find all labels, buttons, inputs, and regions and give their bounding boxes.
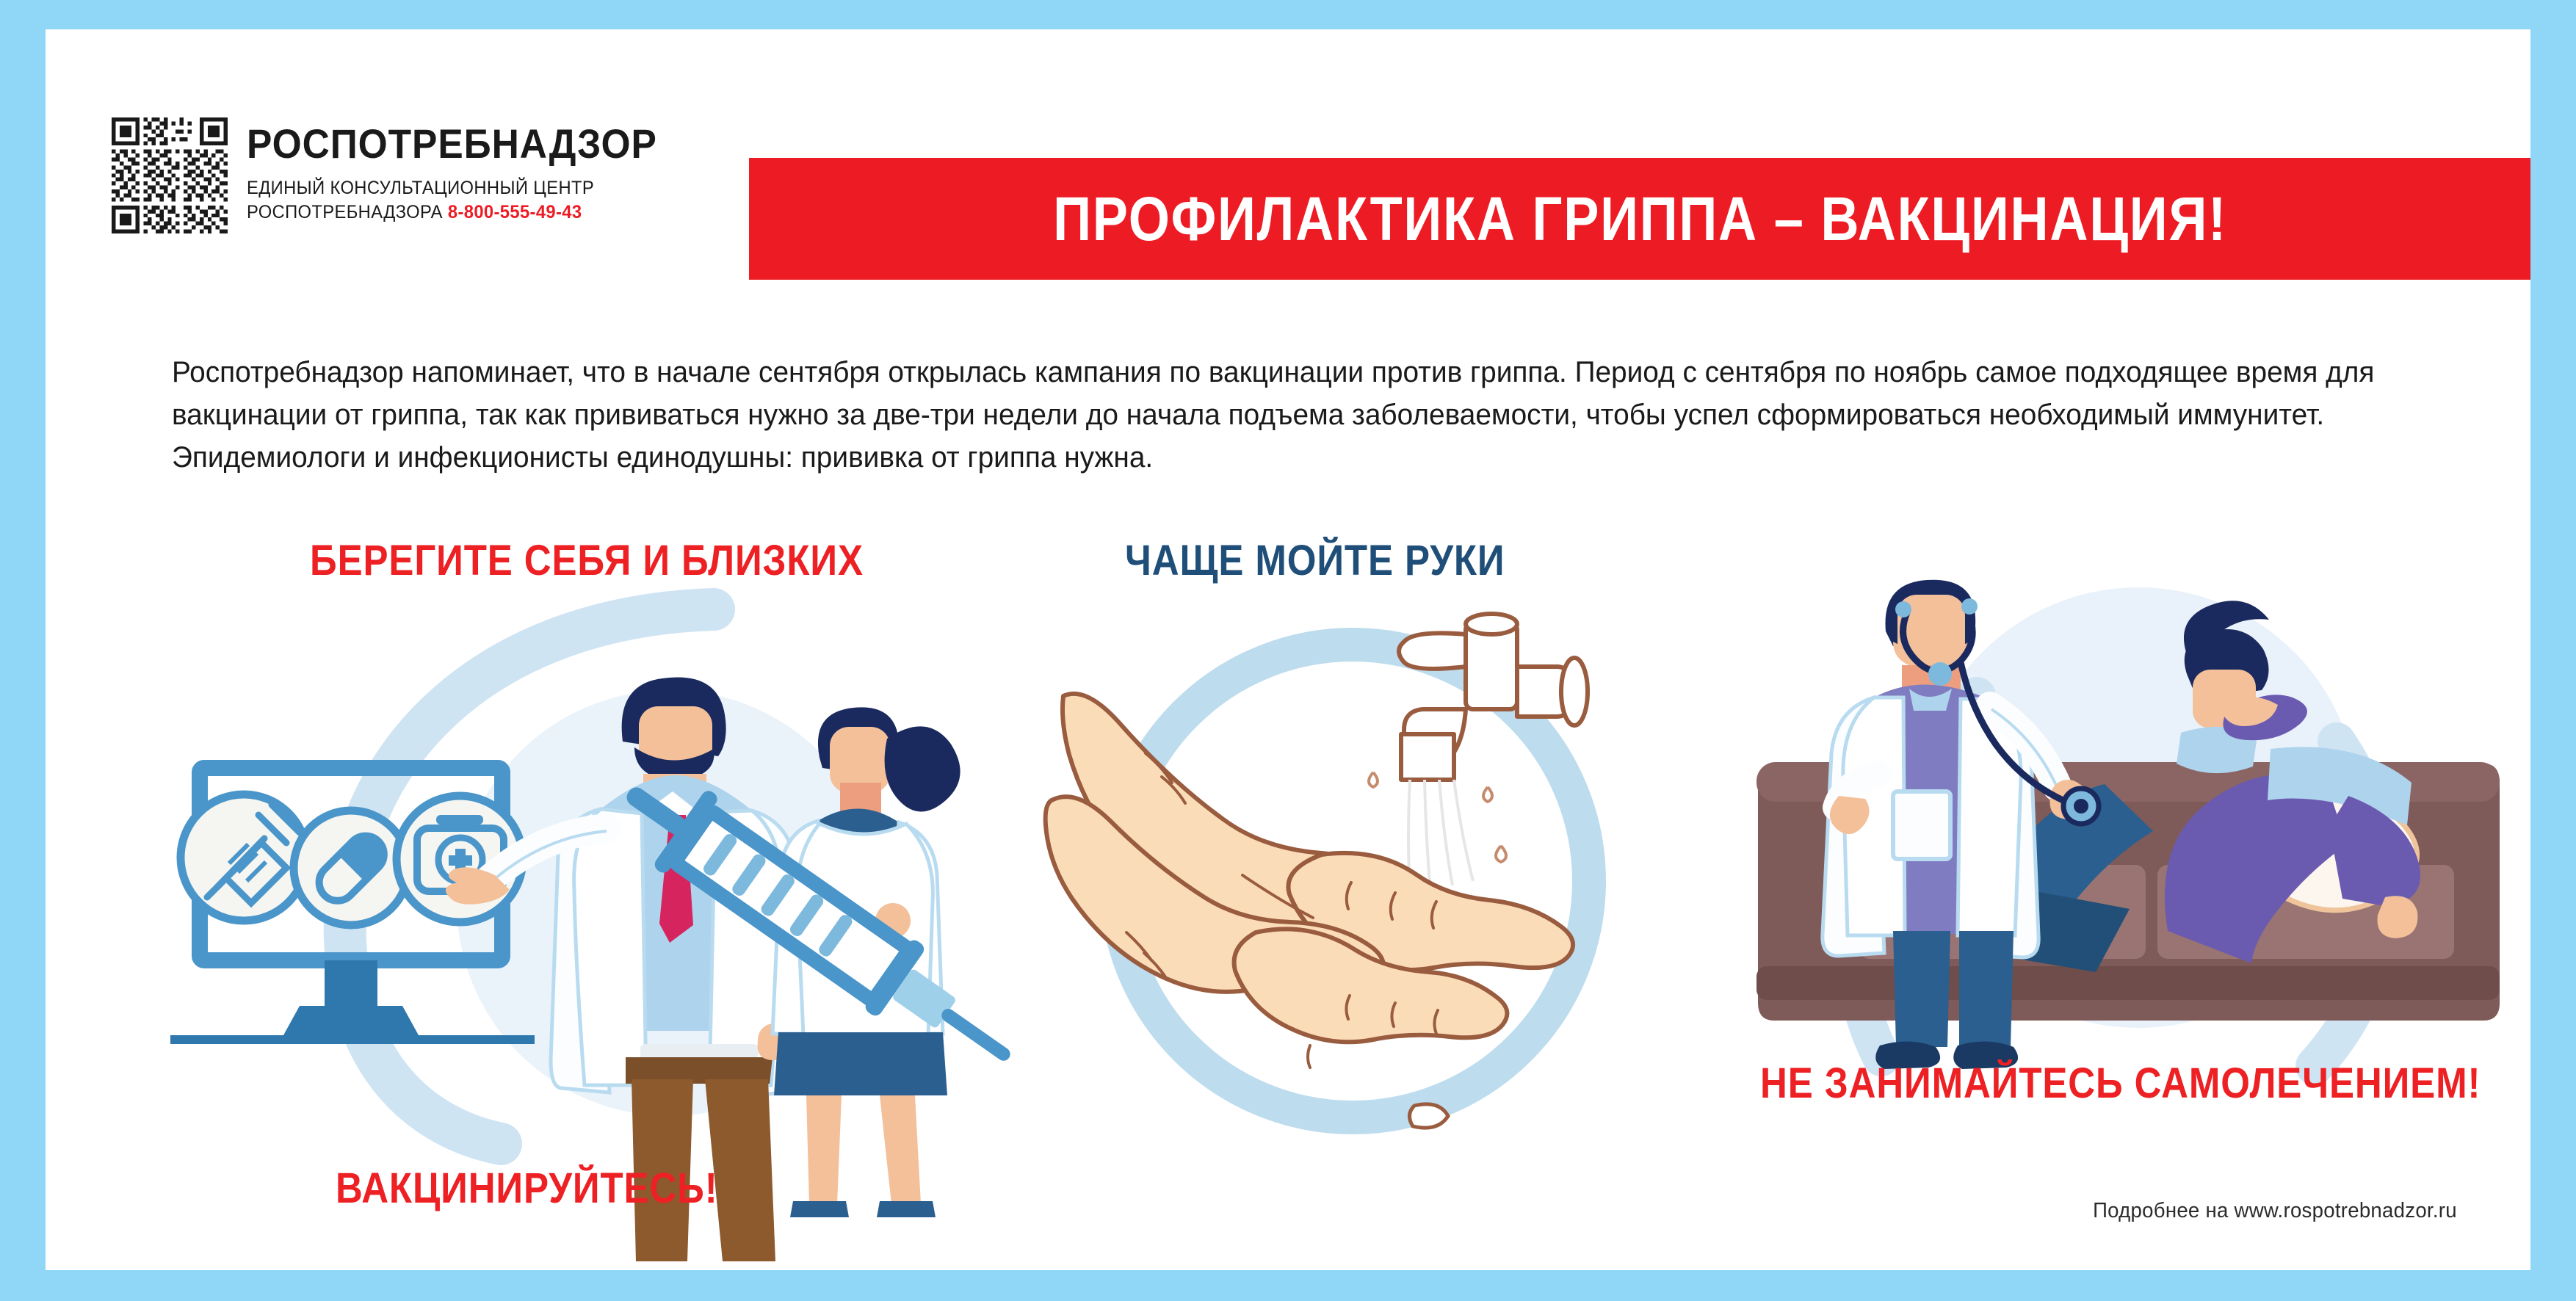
handwashing-illustration (1022, 587, 1683, 1167)
fingernail (1409, 1104, 1448, 1128)
panel-handwashing-title: ЧАЩЕ МОЙТЕ РУКИ (1125, 536, 1505, 585)
intro-paragraph: Роспотребнадзор напоминает, что в начале… (172, 351, 2394, 479)
vaccination-illustration (156, 595, 985, 1153)
self-medication-illustration (1756, 499, 2498, 1087)
logo-text-block: РОСПОТРЕБНАДЗОР ЕДИНЫЙ КОНСУЛЬТАЦИОННЫЙ … (247, 117, 692, 225)
panel-vaccination-title: БЕРЕГИТЕ СЕБЯ И БЛИЗКИХ (310, 536, 864, 585)
monitor-icon-syringe (181, 794, 307, 921)
footer-note: Подробнее на www.rospotrebnadzor.ru (2093, 1199, 2457, 1223)
monitor-icon-pill (294, 811, 408, 925)
rospotrebnadzor-logo: РОСПОТРЕБНАДЗОР ЕДИНЫЙ КОНСУЛЬТАЦИОННЫЙ … (112, 117, 692, 233)
logo-subtitle-line2-row: РОСПОТРЕБНАДЗОРА 8-800-555-49-43 (247, 200, 670, 225)
logo-subtitle: ЕДИНЫЙ КОНСУЛЬТАЦИОННЫЙ ЦЕНТР РОСПОТРЕБН… (247, 176, 670, 225)
hotline-phone[interactable]: 8-800-555-49-43 (448, 202, 582, 222)
panel-handwashing: ЧАЩЕ МОЙТЕ РУКИ (1022, 536, 1683, 1204)
panel-vaccination-caption: ВАКЦИНИРУЙТЕСЬ! (336, 1164, 718, 1213)
qr-code-icon (112, 117, 228, 233)
panel-self-medication-caption: НЕ ЗАНИМАЙТЕСЬ САМОЛЕЧЕНИЕМ! (1760, 1059, 2481, 1108)
headline-banner: ПРОФИЛАКТИКА ГРИППА – ВАКЦИНАЦИЯ! (749, 158, 2530, 280)
logo-title: РОСПОТРЕБНАДЗОР (247, 123, 657, 164)
poster-canvas: РОСПОТРЕБНАДЗОР ЕДИНЫЙ КОНСУЛЬТАЦИОННЫЙ … (46, 29, 2530, 1270)
panel-self-medication: НЕ ЗАНИМАЙТЕСЬ САМОЛЕЧЕНИЕМ! (1756, 499, 2498, 1241)
logo-subtitle-line1: ЕДИНЫЙ КОНСУЛЬТАЦИОННЫЙ ЦЕНТР (247, 176, 670, 200)
logo-subtitle-line2: РОСПОТРЕБНАДЗОРА (247, 202, 443, 222)
panel-vaccination: БЕРЕГИТЕ СЕБЯ И БЛИЗКИХ (156, 536, 985, 1204)
headline-title: ПРОФИЛАКТИКА ГРИППА – ВАКЦИНАЦИЯ! (1053, 184, 2227, 255)
